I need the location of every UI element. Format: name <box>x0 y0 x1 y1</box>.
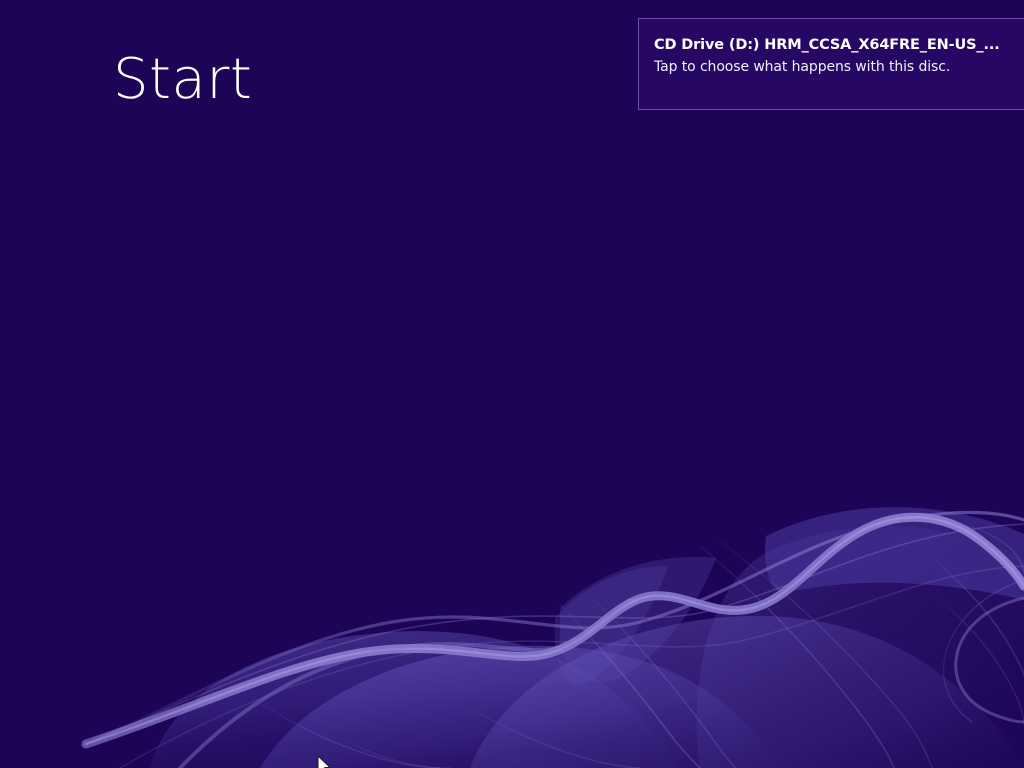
background-artwork <box>0 0 1024 768</box>
background-blobs <box>150 507 1024 768</box>
start-screen: Start CD Drive (D:) HRM_CCSA_X64FRE_EN-U… <box>0 0 1024 768</box>
toast-title: CD Drive (D:) HRM_CCSA_X64FRE_EN-US_... <box>654 36 1014 55</box>
background-main-ribbon <box>86 517 1024 744</box>
mouse-pointer-icon <box>317 755 333 768</box>
toast-subtitle: Tap to choose what happens with this dis… <box>654 58 1014 77</box>
page-title: Start <box>113 47 252 113</box>
background-secondary-ribbon <box>82 512 1024 746</box>
background-lower-ribbon <box>180 600 630 768</box>
background-hairlines <box>86 524 1024 768</box>
toast-content: CD Drive (D:) HRM_CCSA_X64FRE_EN-US_... … <box>654 36 1014 77</box>
background-ribbon-tail <box>956 598 1024 722</box>
cd-drive-autoplay-toast[interactable]: CD Drive (D:) HRM_CCSA_X64FRE_EN-US_... … <box>638 18 1024 110</box>
